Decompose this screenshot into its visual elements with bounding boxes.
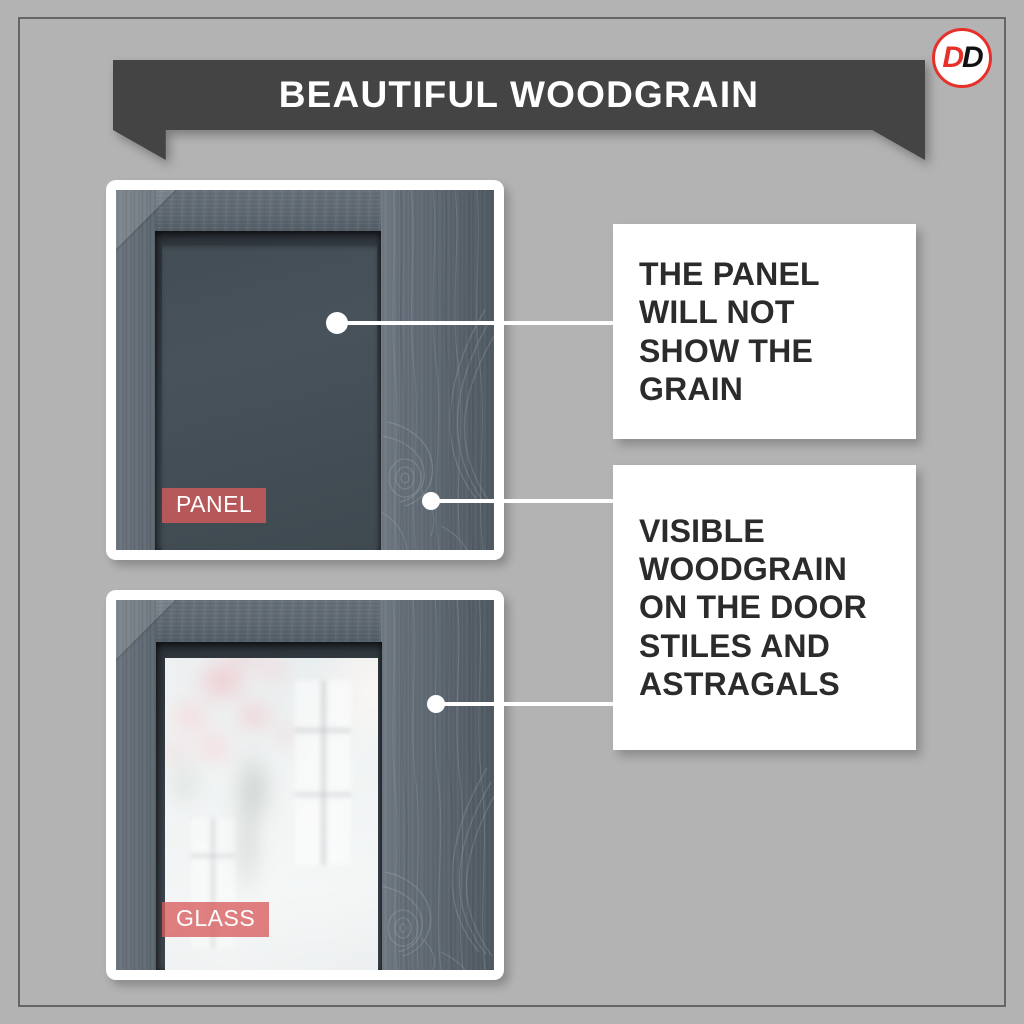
- header-banner-title: BEAUTIFUL WOODGRAIN: [113, 60, 925, 130]
- leader-line-panel-face: [335, 321, 613, 325]
- leader-dot-glass-stile: [427, 695, 445, 713]
- infographic-poster: DD BEAUTIFUL WOODGRAIN: [0, 0, 1024, 1024]
- callout-panel-grain: THE PANEL WILL NOT SHOW THE GRAIN: [613, 224, 916, 439]
- callout-1-line-1: THE PANEL: [639, 255, 820, 293]
- callout-panel-grain-text: THE PANEL WILL NOT SHOW THE GRAIN: [639, 255, 820, 407]
- panel-chip: PANEL: [162, 488, 266, 523]
- callout-2-line-4: STILES AND: [639, 627, 867, 665]
- callout-2-line-3: ON THE DOOR: [639, 588, 867, 626]
- panel-door-card: PANEL: [106, 180, 504, 560]
- glass-stile-striation: [381, 600, 494, 970]
- leader-line-glass-stile: [437, 702, 613, 706]
- callout-2-line-5: ASTRAGALS: [639, 665, 867, 703]
- leader-dot-panel-face: [326, 312, 348, 334]
- callout-visible-woodgrain: VISIBLE WOODGRAIN ON THE DOOR STILES AND…: [613, 465, 916, 750]
- glass-door-right-stile: [381, 600, 494, 970]
- callout-2-line-1: VISIBLE: [639, 512, 867, 550]
- callout-visible-woodgrain-text: VISIBLE WOODGRAIN ON THE DOOR STILES AND…: [639, 512, 867, 702]
- brand-logo-letter-2: D: [962, 41, 982, 74]
- brand-logo-letter-1: D: [942, 41, 962, 74]
- brand-logo-text: DD: [942, 43, 981, 73]
- glass-door-photo: GLASS: [116, 600, 494, 970]
- leader-line-panel-stile: [432, 499, 613, 503]
- callout-1-line-3: SHOW THE: [639, 332, 820, 370]
- header-banner: BEAUTIFUL WOODGRAIN: [113, 60, 925, 160]
- glass-chip: GLASS: [162, 902, 269, 937]
- callout-1-line-4: GRAIN: [639, 370, 820, 408]
- glass-door-card: GLASS: [106, 590, 504, 980]
- brand-logo: DD: [932, 28, 992, 88]
- callout-2-line-2: WOODGRAIN: [639, 550, 867, 588]
- callout-1-line-2: WILL NOT: [639, 293, 820, 331]
- leader-dot-panel-stile: [422, 492, 440, 510]
